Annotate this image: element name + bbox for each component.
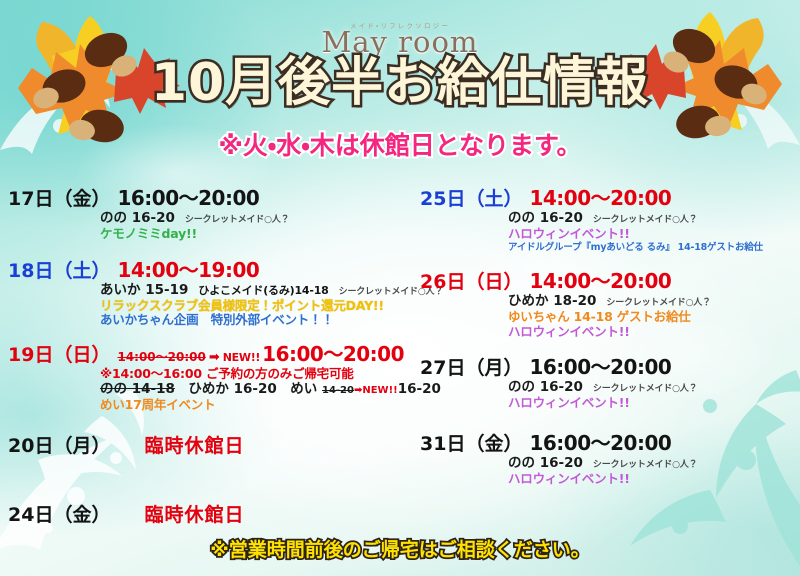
entry-time: 16:00〜20:00 (529, 355, 671, 379)
entry-caution: ※14:00〜16:00 ご予約の方のみご帰宅可能 (100, 367, 408, 382)
new-badge: NEW!! (223, 351, 260, 364)
entry-details: のの 16-20シークレットメイド○人？ハロウィンイベント!! (508, 456, 800, 487)
entry-staff-line: あいか 15-19ひよこメイド(るみ)14-18シークレットメイド○人？ (100, 283, 408, 299)
entry-time: 16:00〜20:00 (529, 431, 671, 455)
entry-date: 26日（日） (420, 271, 522, 293)
entry-date: 25日（土） (420, 188, 522, 210)
entry-date: 31日（金） (420, 433, 522, 455)
poster-canvas: メイド・リフレクソロジー May room 10月後半お給仕情報 ※火・水・木は… (0, 0, 800, 576)
footer-note: ※営業時間前後のご帰宅はご相談ください。 (0, 535, 800, 562)
entry-header-row: 18日（土）14:00〜19:00 (8, 254, 408, 283)
closed-label: 臨時休館日 (144, 504, 244, 526)
entry-note: アイドルグループ『myあいどる るみ』 14-18ゲストお給仕 (508, 242, 800, 253)
secret-maid-note: シークレットメイド○人？ (185, 215, 289, 225)
entry-header-row: 27日（月）16:00〜20:00 (420, 351, 800, 380)
schedule-entry: 24日（金）臨時休館日 (8, 500, 408, 527)
staff-name-secondary: ひよこメイド(るみ)14-18 (198, 284, 328, 297)
entry-time: 14:00〜19:00 (117, 258, 259, 282)
staff-time-struck: 14-20 (322, 385, 354, 396)
staff-name-struck: のの 14-18 (100, 381, 175, 397)
entry-time: 16:00〜20:00 (117, 186, 259, 210)
entry-date: 19日（日） (8, 344, 110, 366)
entry-details: のの 16-20シークレットメイド○人？ハロウィンイベント!!アイドルグループ『… (508, 211, 800, 253)
entry-header-row: 25日（土）14:00〜20:00 (420, 182, 800, 211)
entry-staff-line: のの 14-18 ひめか 16-20 めい 14-20➡NEW!!16-20 (100, 382, 408, 398)
secret-maid-note: シークレットメイド○人？ (593, 215, 697, 225)
entry-details: のの 16-20シークレットメイド○人？ケモノミミday!! (100, 211, 408, 242)
entry-staff-line: ひめか 18-20シークレットメイド○人？ (508, 294, 800, 310)
entry-time: 14:00〜20:00 (529, 269, 671, 293)
entry-note: ケモノミミday!! (100, 227, 408, 242)
schedule-column-left: 17日（金）16:00〜20:00のの 16-20シークレットメイド○人？ケモノ… (8, 182, 408, 555)
schedule-entry: 25日（土）14:00〜20:00のの 16-20シークレットメイド○人？ハロウ… (420, 182, 800, 253)
entry-header-row: 24日（金）臨時休館日 (8, 500, 408, 527)
entry-header-row: 31日（金）16:00〜20:00 (420, 427, 800, 456)
entry-staff-line: のの 16-20シークレットメイド○人？ (508, 211, 800, 227)
schedule-entry: 27日（月）16:00〜20:00のの 16-20シークレットメイド○人？ハロウ… (420, 351, 800, 411)
staff-name: のの 16-20 (508, 455, 583, 471)
entry-note: ハロウィンイベント!! (508, 325, 800, 340)
entry-details: ひめか 18-20シークレットメイド○人？ゆいちゃん 14-18 ゲストお給仕ハ… (508, 294, 800, 339)
staff-name: ひめか 16-20 (175, 381, 290, 397)
entry-note: ハロウィンイベント!! (508, 227, 800, 242)
new-badge: NEW!! (362, 385, 397, 396)
closed-days-subtitle: ※火・水・木は休館日となります。 (0, 126, 800, 162)
entry-note: あいかちゃん企画 特別外部イベント！！ (100, 313, 408, 328)
staff-name: めい (290, 381, 322, 397)
entry-header-row: 26日（日）14:00〜20:00 (420, 265, 800, 294)
staff-name: ひめか 18-20 (508, 293, 596, 309)
closed-label: 臨時休館日 (144, 435, 244, 457)
entry-details: ※14:00〜16:00 ご予約の方のみご帰宅可能のの 14-18 ひめか 16… (100, 367, 408, 412)
entry-header-row: 17日（金）16:00〜20:00 (8, 182, 408, 211)
secret-maid-note: シークレットメイド○人？ (593, 460, 697, 470)
entry-note: リラックスクラブ会員様限定！ポイント還元DAY!! (100, 299, 408, 314)
entry-date: 27日（月） (420, 357, 522, 379)
entry-date: 17日（金） (8, 188, 110, 210)
staff-name: あいか 15-19 (100, 282, 188, 298)
entry-date: 24日（金） (8, 504, 110, 526)
schedule-entry: 18日（土）14:00〜19:00あいか 15-19ひよこメイド(るみ)14-1… (8, 254, 408, 328)
entry-staff-line: のの 16-20シークレットメイド○人？ (100, 211, 408, 227)
entry-staff-line: のの 16-20シークレットメイド○人？ (508, 456, 800, 472)
page-title: 10月後半お給仕情報 (0, 56, 800, 111)
staff-name: のの 16-20 (508, 210, 583, 226)
entry-time: 14:00〜20:00 (529, 186, 671, 210)
entry-header-row: 19日（日）14:00〜20:00➡NEW!!16:00〜20:00 (8, 338, 408, 367)
entry-date: 18日（土） (8, 260, 110, 282)
schedule-entry: 19日（日）14:00〜20:00➡NEW!!16:00〜20:00※14:00… (8, 338, 408, 412)
staff-name: のの 16-20 (508, 379, 583, 395)
schedule-entry: 31日（金）16:00〜20:00のの 16-20シークレットメイド○人？ハロウ… (420, 427, 800, 487)
staff-name: のの 16-20 (100, 210, 175, 226)
entry-details: のの 16-20シークレットメイド○人？ハロウィンイベント!! (508, 380, 800, 411)
schedule-entry: 17日（金）16:00〜20:00のの 16-20シークレットメイド○人？ケモノ… (8, 182, 408, 242)
entry-note: ゆいちゃん 14-18 ゲストお給仕 (508, 310, 800, 325)
shop-logo: メイド・リフレクソロジー May room (0, 20, 800, 57)
entry-note: ハロウィンイベント!! (508, 396, 800, 411)
entry-date: 20日（月） (8, 435, 110, 457)
entry-note: めい17周年イベント (100, 398, 408, 413)
schedule-columns: 17日（金）16:00〜20:00のの 16-20シークレットメイド○人？ケモノ… (0, 182, 800, 532)
secret-maid-note: シークレットメイド○人？ (606, 298, 710, 308)
schedule-column-right: 25日（土）14:00〜20:00のの 16-20シークレットメイド○人？ハロウ… (420, 182, 800, 491)
entry-staff-line: のの 16-20シークレットメイド○人？ (508, 380, 800, 396)
entry-note: ハロウィンイベント!! (508, 472, 800, 487)
entry-header-row: 20日（月）臨時休館日 (8, 431, 408, 458)
entry-details: あいか 15-19ひよこメイド(るみ)14-18シークレットメイド○人？リラック… (100, 283, 408, 328)
secret-maid-note: シークレットメイド○人？ (593, 384, 697, 394)
entry-old-time: 14:00〜20:00 (117, 350, 205, 364)
schedule-entry: 20日（月）臨時休館日 (8, 431, 408, 458)
change-arrow-icon: ➡ (209, 350, 220, 365)
schedule-entry: 26日（日）14:00〜20:00ひめか 18-20シークレットメイド○人？ゆい… (420, 265, 800, 339)
entry-time: 16:00〜20:00 (262, 342, 404, 366)
